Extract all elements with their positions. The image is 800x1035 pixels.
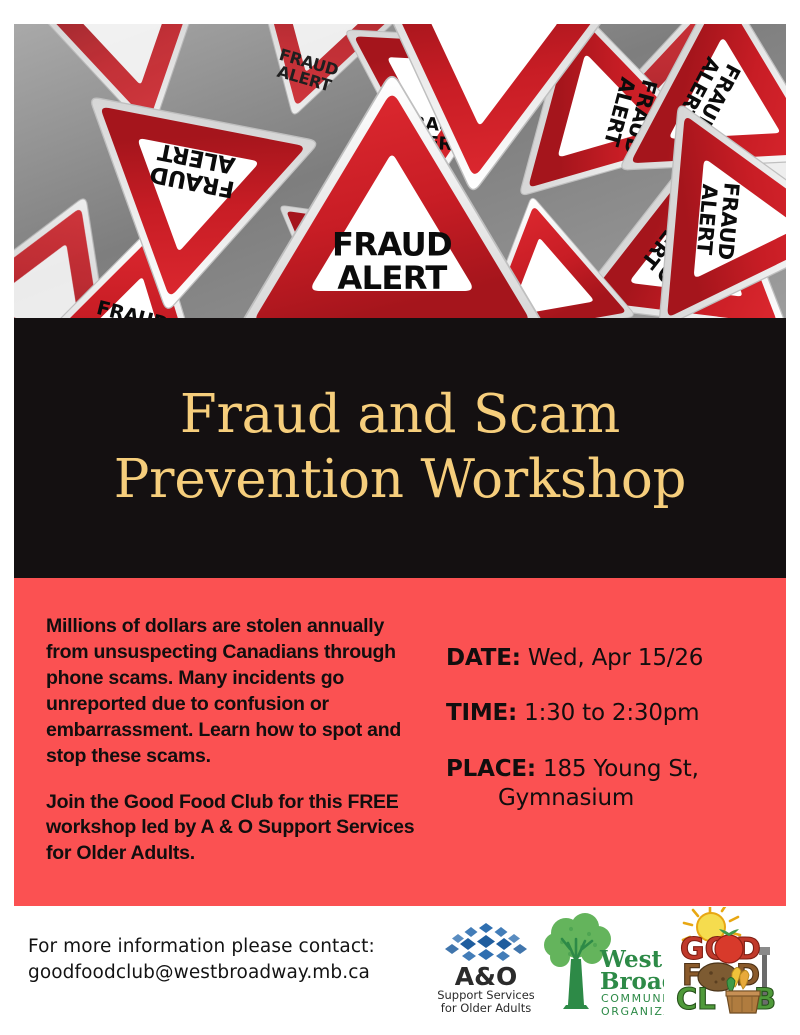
poster-page: FRAUD ALERT — [0, 0, 800, 1035]
ao-dome-icon — [445, 923, 527, 961]
footer: For more information please contact: goo… — [14, 906, 786, 1021]
body-paragraph-1: Millions of dollars are stolen annually … — [46, 614, 426, 770]
contact-email[interactable]: goodfoodclub@westbroadway.mb.ca — [28, 960, 448, 986]
detail-place-value: 185 Young St, — [543, 756, 699, 782]
contact-prompt: For more information please contact: — [28, 934, 448, 960]
logo-west-broadway: West Broadway COMMUNITY ORGANIZATION — [540, 909, 664, 1022]
detail-place: PLACE: 185 Young St, Gymnasium — [446, 755, 776, 814]
ao-wordmark: A&O — [455, 962, 517, 991]
ao-tagline-2: for Older Adults — [441, 1001, 531, 1015]
content-band: Millions of dollars are stolen annually … — [14, 578, 786, 906]
wb-name-line-2: Broadway — [600, 968, 664, 995]
detail-place-value-line-2: Gymnasium — [498, 784, 776, 813]
detail-date-label: DATE: — [446, 645, 521, 671]
detail-date: DATE: Wed, Apr 15/26 — [446, 644, 776, 673]
detail-time: TIME: 1:30 to 2:30pm — [446, 699, 776, 728]
logo-good-food-club: GO D F D — [670, 907, 786, 1022]
svg-text:CL: CL — [676, 982, 716, 1016]
detail-place-label: PLACE: — [446, 756, 536, 782]
wb-sub-line-1: COMMUNITY — [601, 992, 664, 1005]
body-paragraph-2: Join the Good Food Club for this FREE wo… — [46, 790, 426, 868]
detail-date-value: Wed, Apr 15/26 — [528, 645, 703, 671]
detail-time-label: TIME: — [446, 700, 517, 726]
detail-time-value: 1:30 to 2:30pm — [524, 700, 699, 726]
logo-row: A&O Support Services for Older Adults — [438, 910, 786, 1022]
title-band: Fraud and Scam Prevention Workshop — [14, 318, 786, 578]
page-title-line-2: Prevention Workshop — [114, 448, 687, 513]
logo-ao: A&O Support Services for Older Adults — [438, 913, 534, 1022]
page-title-line-1: Fraud and Scam — [180, 383, 620, 448]
event-details: DATE: Wed, Apr 15/26 TIME: 1:30 to 2:30p… — [446, 644, 776, 814]
header-image: FRAUD ALERT — [14, 24, 786, 318]
contact-block: For more information please contact: goo… — [28, 934, 448, 987]
body-text-column: Millions of dollars are stolen annually … — [46, 614, 426, 867]
wb-sub-line-2: ORGANIZATION — [601, 1005, 664, 1017]
ao-tagline-1: Support Services — [438, 988, 534, 1002]
